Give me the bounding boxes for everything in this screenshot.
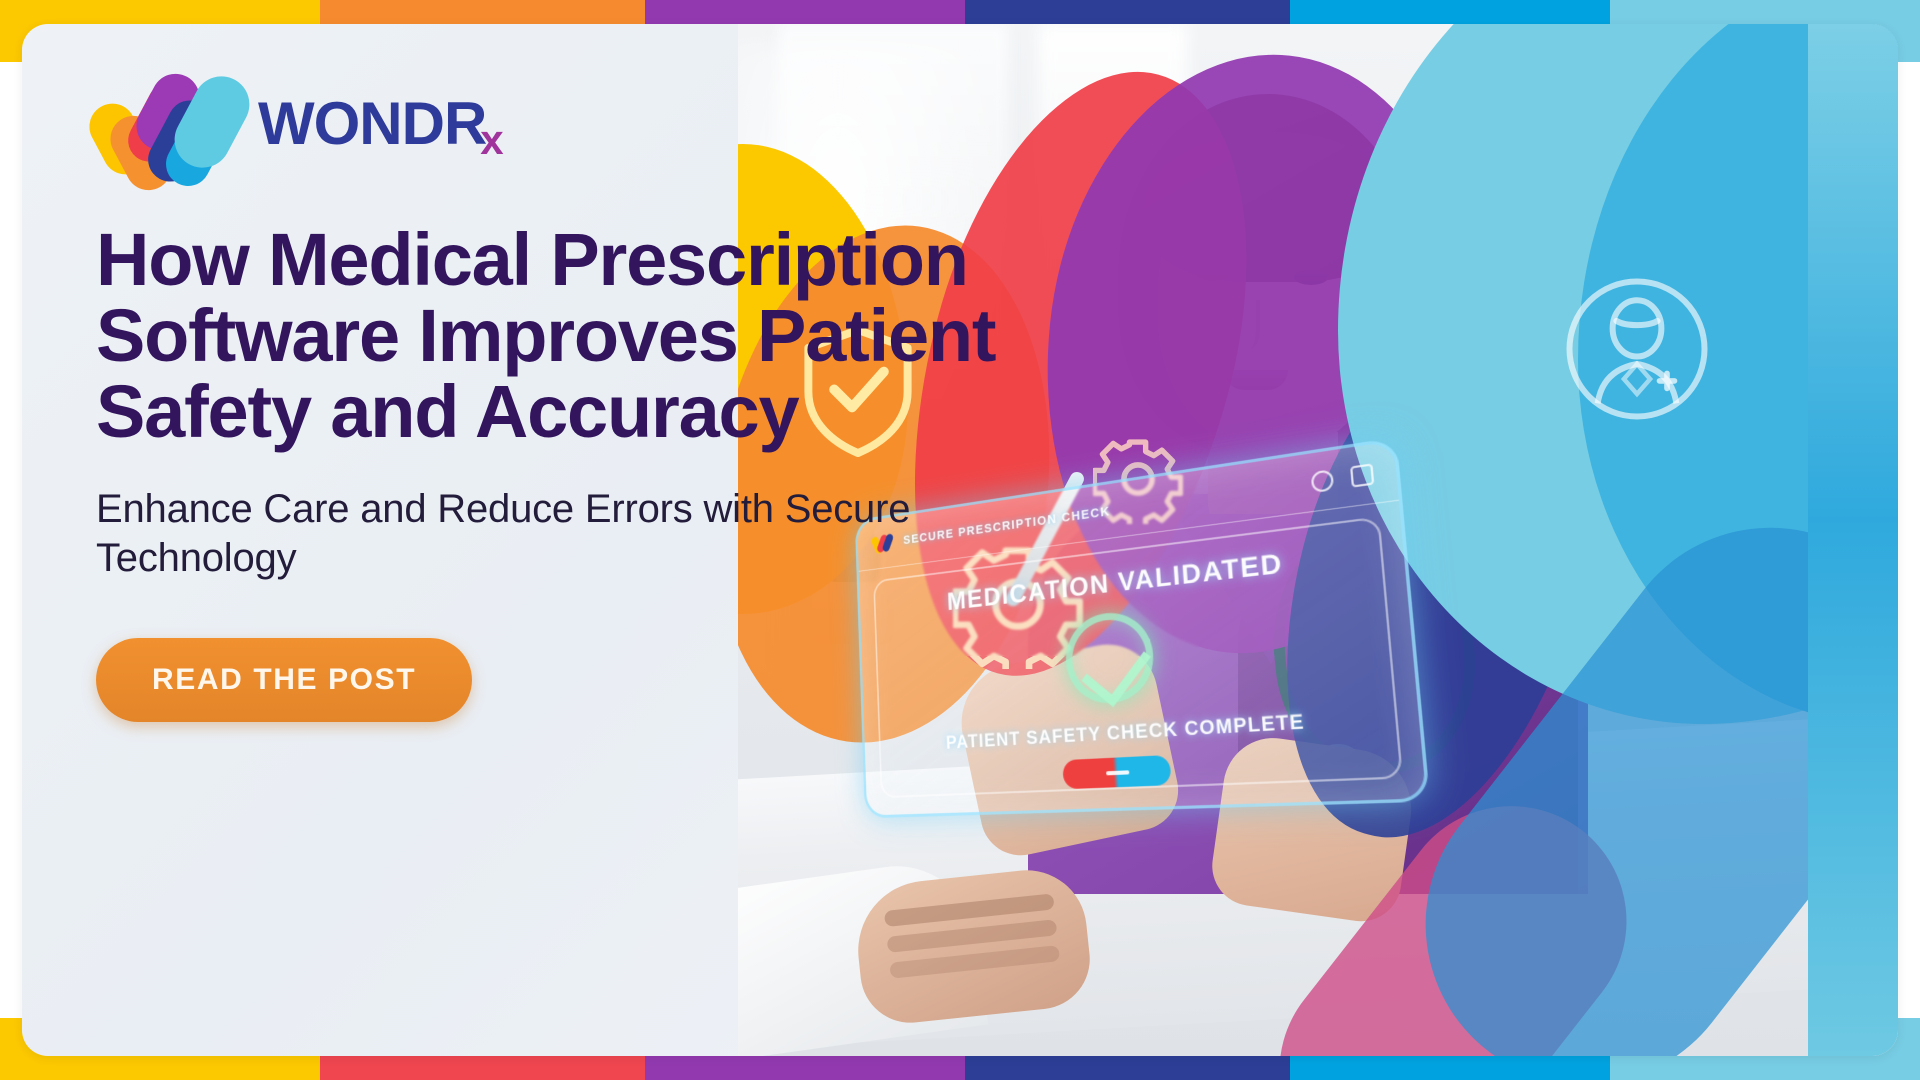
doctor-nose (1230, 300, 1260, 350)
safety-toggle[interactable] (1062, 755, 1171, 790)
doctor-eye-right (1294, 270, 1328, 285)
doctor-hair-front (1144, 132, 1402, 282)
wondrx-capsule-logo (96, 74, 236, 166)
pill-icon[interactable] (1350, 463, 1374, 487)
hero-banner-card: SECURE PRESCRIPTION CHECK MEDICATION VAL… (22, 24, 1898, 1056)
patient-hands (738, 816, 1098, 1046)
tablet-header-icons (1311, 463, 1375, 493)
brand-logo[interactable]: WONDRx (96, 72, 1096, 168)
page-subtitle: Enhance Care and Reduce Errors with Secu… (96, 485, 1096, 584)
read-the-post-button[interactable]: READ THE POST (96, 638, 472, 722)
doctor-mouth (1224, 370, 1288, 390)
brand-wordmark: WONDRx (258, 94, 509, 154)
page-title: How Medical Prescription Software Improv… (96, 222, 1076, 451)
hero-content: WONDRx How Medical Prescription Software… (96, 72, 1096, 722)
brand-wordmark-x: x (480, 116, 502, 163)
brand-wordmark-main: WONDR (258, 90, 486, 157)
clock-icon[interactable] (1311, 469, 1335, 493)
doctor-eye-left (1196, 266, 1230, 281)
